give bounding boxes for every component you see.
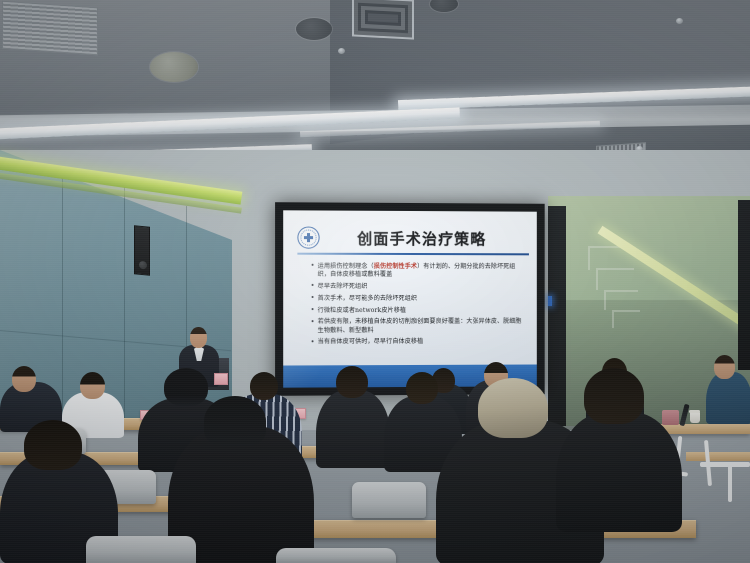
bullet-dot-icon — [312, 320, 314, 322]
list-item: 当有自体皮可供时，尽早行自体皮移植 — [312, 338, 525, 347]
list-item: 行微粒皮或者network皮片移植 — [312, 307, 525, 315]
louver-vent-icon — [2, 1, 98, 56]
sprinkler-icon — [676, 18, 683, 24]
attendee-head — [714, 355, 735, 379]
namecard — [214, 373, 228, 385]
attendee-head — [24, 420, 82, 470]
attendee-body — [316, 390, 390, 468]
chair — [86, 536, 196, 563]
list-item: 运用损伤控制理念（损伤控制性手术）有计划的、分期分批的去除坏死组织，自体皮移植或… — [312, 263, 525, 280]
attendee-head-with-cap — [204, 396, 266, 446]
slide-header: 创面手术治疗策略 — [297, 222, 527, 253]
ceiling-speaker-icon — [150, 52, 198, 82]
list-item: 尽早去除坏死组织 — [312, 283, 525, 291]
bullet-dot-icon — [312, 296, 314, 298]
panel-seam — [124, 186, 125, 421]
attendee-head — [250, 372, 278, 400]
wall-decor-rect — [596, 268, 634, 290]
attendee-head — [584, 368, 644, 424]
attendee-head-bald — [478, 378, 548, 438]
cup-lid — [689, 410, 700, 413]
square-diffuser-icon — [352, 0, 414, 40]
chair — [352, 482, 426, 518]
wall-decor-rect — [604, 290, 638, 310]
attendee-body-foreground — [556, 412, 682, 532]
panel-seam — [62, 168, 63, 418]
lecture-room-photo: 创面手术治疗策略 运用损伤控制理念（损伤控制性手术）有计划的、分期分批的去除坏死… — [0, 0, 750, 563]
slide-title: 创面手术治疗策略 — [326, 227, 527, 249]
title-divider — [297, 253, 529, 256]
chair — [276, 548, 396, 563]
paper-cup — [690, 412, 700, 423]
red-pouch — [662, 410, 679, 425]
slide-surface: 创面手术治疗策略 运用损伤控制理念（损伤控制性手术）有计划的、分期分批的去除坏死… — [283, 210, 537, 387]
dark-wall-panel — [738, 200, 750, 370]
status-led-icon — [548, 296, 552, 306]
bullet-dot-icon — [312, 308, 314, 310]
wall-decor-rect — [612, 310, 640, 328]
chair-rail — [700, 462, 750, 467]
hospital-emblem-icon — [297, 226, 319, 248]
slide-bullet-list: 运用损伤控制理念（损伤控制性手术）有计划的、分期分批的去除坏死组织，自体皮移植或… — [312, 263, 525, 351]
bullet-dot-icon — [312, 284, 314, 286]
attendee-head — [336, 366, 368, 398]
attendee-head — [12, 366, 36, 392]
attendee-body — [706, 372, 750, 424]
list-item: 若供皮有限，未移植自体皮的切削痂创面要良好覆盖：大张异体皮、脱细胞生物敷料、新型… — [312, 318, 525, 335]
side-table — [686, 452, 750, 461]
dark-wall-panel — [548, 206, 566, 426]
attendee-head — [80, 372, 105, 399]
attendee-head-with-cap — [164, 368, 208, 406]
wall-speaker-icon — [134, 225, 150, 275]
bullet-dot-icon — [312, 264, 314, 266]
list-item: 首次手术，尽可能多的去除坏死组织 — [312, 295, 525, 303]
chair-leg — [728, 462, 732, 502]
presenter-head — [190, 327, 207, 348]
sprinkler-icon — [338, 48, 345, 54]
ceiling-speaker-icon — [296, 18, 332, 40]
bullet-dot-icon — [312, 340, 314, 342]
attendee-head — [406, 372, 438, 404]
